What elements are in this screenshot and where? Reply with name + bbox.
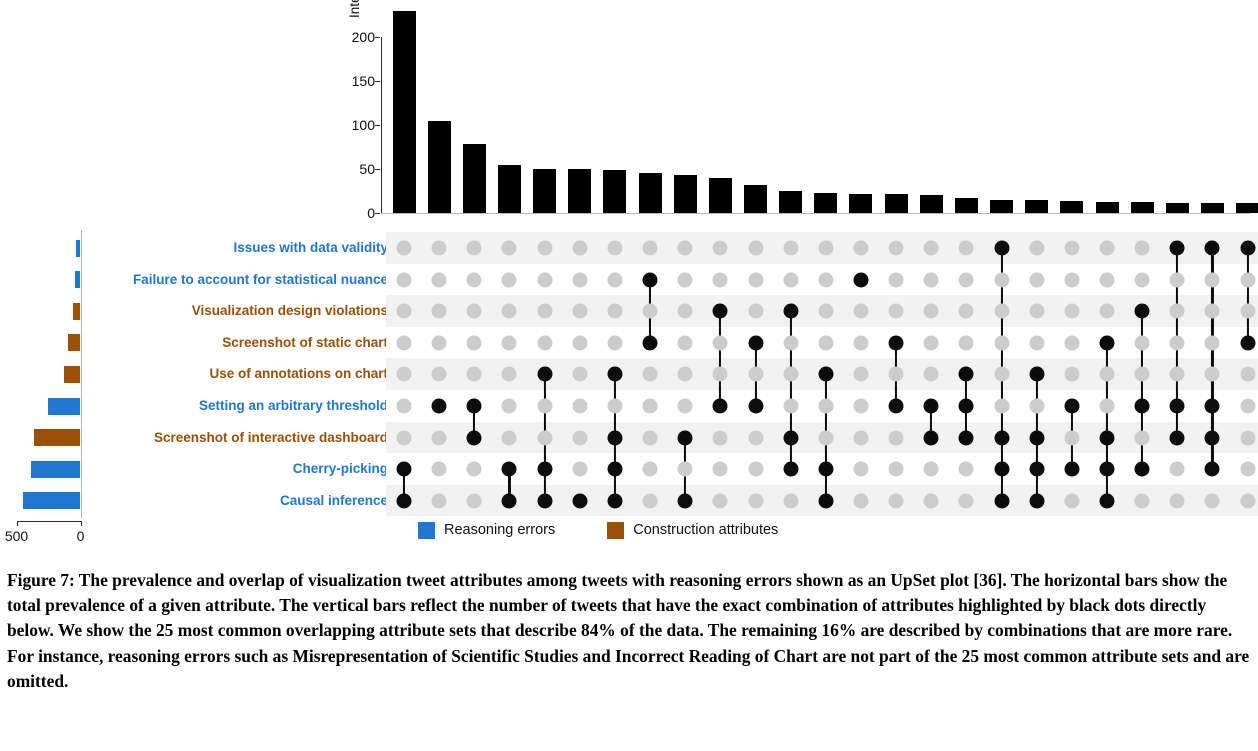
- matrix-dot-inactive: [397, 272, 412, 287]
- legend-label: Reasoning errors: [444, 522, 555, 538]
- matrix-dot-inactive: [713, 335, 728, 350]
- matrix-dot-inactive: [1135, 272, 1150, 287]
- matrix-dot-active: [713, 304, 728, 319]
- matrix-dot-active: [607, 430, 622, 445]
- matrix-dot-inactive: [713, 367, 728, 382]
- intersection-bar: [674, 175, 697, 213]
- matrix-dot-active: [994, 241, 1009, 256]
- matrix-dot-active: [1170, 430, 1185, 445]
- matrix-dot-inactive: [1100, 399, 1115, 414]
- matrix-dot-inactive: [537, 304, 552, 319]
- matrix-dot-inactive: [853, 367, 868, 382]
- matrix-connector-line: [719, 311, 721, 406]
- intersection-bar: [498, 165, 521, 213]
- legend: Reasoning errorsConstruction attributes: [418, 518, 778, 542]
- matrix-dot-active: [607, 462, 622, 477]
- set-size-tick-label: 500: [5, 528, 28, 544]
- matrix-dot-inactive: [502, 335, 517, 350]
- matrix-dot-inactive: [959, 493, 974, 508]
- set-size-tick-label: 0: [77, 528, 85, 544]
- matrix-dot-active: [959, 367, 974, 382]
- matrix-dot-inactive: [537, 272, 552, 287]
- matrix-dot-active: [1029, 367, 1044, 382]
- matrix-dot-inactive: [889, 462, 904, 477]
- matrix-dot-inactive: [959, 335, 974, 350]
- matrix-dot-active: [643, 335, 658, 350]
- matrix-dot-inactive: [572, 304, 587, 319]
- matrix-dot-inactive: [1064, 367, 1079, 382]
- matrix-dot-active: [889, 399, 904, 414]
- intersection-bar: [463, 144, 486, 213]
- matrix-dot-active: [678, 430, 693, 445]
- matrix-dot-inactive: [818, 430, 833, 445]
- matrix-dot-inactive: [678, 399, 693, 414]
- set-name-label: Causal inference: [280, 487, 388, 515]
- matrix-dot-inactive: [1064, 430, 1079, 445]
- matrix-dot-inactive: [607, 241, 622, 256]
- matrix-dot-inactive: [1205, 367, 1220, 382]
- matrix-dot-active: [1100, 335, 1115, 350]
- matrix-dot-inactive: [924, 462, 939, 477]
- matrix-dot-inactive: [1029, 304, 1044, 319]
- matrix-dot-active: [818, 462, 833, 477]
- intersection-bar: [779, 191, 802, 213]
- matrix-dot-active: [1100, 493, 1115, 508]
- matrix-dot-active: [783, 462, 798, 477]
- legend-swatch: [418, 522, 435, 539]
- matrix-dot-inactive: [959, 304, 974, 319]
- matrix-dot-inactive: [818, 241, 833, 256]
- set-size-axis: 5000: [0, 517, 110, 555]
- set-name-label: Screenshot of static chart: [222, 329, 388, 357]
- intersection-bar: [744, 185, 767, 213]
- matrix-dot-inactive: [1029, 399, 1044, 414]
- matrix-dot-inactive: [853, 430, 868, 445]
- matrix-dot-inactive: [853, 462, 868, 477]
- matrix-dot-inactive: [889, 493, 904, 508]
- intersection-bars: [0, 0, 1258, 214]
- matrix-dot-active: [1135, 399, 1150, 414]
- matrix-dot-inactive: [853, 335, 868, 350]
- matrix-dot-inactive: [889, 304, 904, 319]
- matrix-dot-active: [783, 430, 798, 445]
- matrix-dot-inactive: [748, 304, 763, 319]
- matrix-dot-inactive: [1240, 367, 1255, 382]
- matrix-dot-inactive: [994, 272, 1009, 287]
- matrix-dot-inactive: [397, 399, 412, 414]
- matrix-dot-inactive: [1029, 241, 1044, 256]
- matrix-dot-inactive: [783, 367, 798, 382]
- matrix-dot-inactive: [607, 335, 622, 350]
- matrix-dot-inactive: [572, 367, 587, 382]
- matrix-dot-inactive: [783, 241, 798, 256]
- intersection-bar: [428, 121, 451, 213]
- matrix-dot-active: [467, 430, 482, 445]
- matrix-dot-active: [1205, 241, 1220, 256]
- matrix-dot-inactive: [397, 430, 412, 445]
- set-size-tickmark: [17, 521, 18, 526]
- matrix-dot-inactive: [397, 304, 412, 319]
- set-size-bar: [48, 398, 81, 415]
- matrix-dot-inactive: [432, 241, 447, 256]
- matrix-dot-active: [783, 304, 798, 319]
- matrix-dot-inactive: [853, 241, 868, 256]
- matrix-dot-inactive: [783, 335, 798, 350]
- matrix-dot-inactive: [1100, 367, 1115, 382]
- matrix-dot-inactive: [994, 335, 1009, 350]
- matrix-dot-inactive: [713, 430, 728, 445]
- matrix-dot-inactive: [1135, 430, 1150, 445]
- matrix-dot-active: [748, 335, 763, 350]
- matrix-dot-inactive: [1029, 335, 1044, 350]
- set-size-bar: [31, 461, 81, 478]
- intersection-bar: [603, 170, 626, 213]
- matrix-dot-inactive: [959, 462, 974, 477]
- intersection-bar: [568, 169, 591, 213]
- intersection-bar: [1201, 203, 1224, 213]
- matrix-dot-inactive: [1240, 304, 1255, 319]
- matrix-dot-active: [1029, 462, 1044, 477]
- matrix-dot-inactive: [1100, 241, 1115, 256]
- matrix-dot-inactive: [889, 430, 904, 445]
- matrix-dot-active: [748, 399, 763, 414]
- intersection-bar: [639, 173, 662, 213]
- matrix-dot-inactive: [748, 272, 763, 287]
- matrix-dot-active: [1240, 241, 1255, 256]
- matrix-dot-active: [1029, 493, 1044, 508]
- matrix-dot-inactive: [783, 272, 798, 287]
- intersection-bar: [533, 169, 556, 213]
- matrix-dot-inactive: [572, 241, 587, 256]
- matrix-dot-inactive: [1170, 272, 1185, 287]
- matrix-dot-active: [994, 493, 1009, 508]
- matrix-dot-inactive: [783, 399, 798, 414]
- matrix-dot-inactive: [467, 462, 482, 477]
- matrix-dot-inactive: [1240, 462, 1255, 477]
- matrix-dot-inactive: [1100, 304, 1115, 319]
- matrix-dot-inactive: [643, 304, 658, 319]
- matrix-dot-inactive: [467, 272, 482, 287]
- matrix-dot-inactive: [1135, 335, 1150, 350]
- matrix-dot-inactive: [853, 399, 868, 414]
- matrix-dot-active: [502, 493, 517, 508]
- matrix-dot-inactive: [1064, 241, 1079, 256]
- matrix-dot-active: [959, 430, 974, 445]
- matrix-dot-inactive: [924, 272, 939, 287]
- matrix-dot-inactive: [1205, 272, 1220, 287]
- matrix-dot-inactive: [1170, 493, 1185, 508]
- matrix-dot-inactive: [1100, 272, 1115, 287]
- matrix-dot-inactive: [994, 367, 1009, 382]
- matrix-dot-inactive: [432, 430, 447, 445]
- upset-figure: Intersection size 050100150200 5000 Issu…: [0, 0, 1258, 560]
- matrix-dot-active: [1135, 304, 1150, 319]
- matrix-dot-inactive: [1205, 493, 1220, 508]
- matrix-dot-inactive: [1064, 335, 1079, 350]
- set-name-labels: Issues with data validityFailure to acco…: [96, 232, 392, 517]
- matrix-dot-inactive: [678, 462, 693, 477]
- upset-matrix: [386, 232, 1258, 517]
- matrix-dot-inactive: [467, 367, 482, 382]
- legend-label: Construction attributes: [633, 522, 778, 538]
- set-size-bar: [73, 303, 81, 320]
- matrix-dot-inactive: [1064, 272, 1079, 287]
- matrix-dot-active: [1205, 430, 1220, 445]
- matrix-dot-inactive: [397, 241, 412, 256]
- matrix-dot-inactive: [467, 335, 482, 350]
- matrix-dot-inactive: [502, 430, 517, 445]
- matrix-dot-inactive: [1170, 367, 1185, 382]
- matrix-dot-inactive: [678, 367, 693, 382]
- matrix-dot-inactive: [748, 430, 763, 445]
- matrix-dot-inactive: [643, 430, 658, 445]
- matrix-dot-inactive: [678, 304, 693, 319]
- matrix-dot-inactive: [502, 399, 517, 414]
- matrix-dot-active: [1170, 399, 1185, 414]
- matrix-dot-inactive: [924, 367, 939, 382]
- matrix-dot-inactive: [432, 304, 447, 319]
- matrix-dot-inactive: [537, 241, 552, 256]
- matrix-dot-inactive: [1240, 493, 1255, 508]
- matrix-dot-inactive: [467, 493, 482, 508]
- matrix-dot-inactive: [713, 272, 728, 287]
- matrix-dot-active: [994, 430, 1009, 445]
- matrix-dot-inactive: [1029, 272, 1044, 287]
- matrix-dot-active: [818, 367, 833, 382]
- matrix-dot-inactive: [748, 493, 763, 508]
- matrix-dot-active: [643, 272, 658, 287]
- matrix-dot-inactive: [713, 493, 728, 508]
- set-size-bar: [34, 429, 80, 446]
- matrix-dot-inactive: [748, 241, 763, 256]
- matrix-dot-inactive: [537, 430, 552, 445]
- matrix-dot-active: [502, 462, 517, 477]
- intersection-bar: [1236, 203, 1258, 213]
- matrix-dot-active: [607, 493, 622, 508]
- matrix-dot-inactive: [502, 304, 517, 319]
- matrix-dot-active: [397, 462, 412, 477]
- legend-item: Reasoning errors: [418, 522, 555, 539]
- matrix-dot-inactive: [537, 399, 552, 414]
- intersection-bar: [1025, 200, 1048, 213]
- set-size-bar: [23, 492, 81, 509]
- matrix-dot-inactive: [678, 335, 693, 350]
- matrix-dot-active: [537, 367, 552, 382]
- matrix-dot-inactive: [397, 367, 412, 382]
- intersection-bar: [849, 194, 872, 213]
- matrix-dot-active: [1170, 241, 1185, 256]
- matrix-dot-inactive: [924, 304, 939, 319]
- intersection-bar: [814, 193, 837, 213]
- matrix-dot-inactive: [889, 367, 904, 382]
- set-name-label: Failure to account for statistical nuanc…: [133, 266, 388, 294]
- matrix-dot-inactive: [818, 335, 833, 350]
- legend-swatch: [607, 522, 624, 539]
- matrix-dot-inactive: [572, 335, 587, 350]
- matrix-dot-active: [607, 367, 622, 382]
- matrix-dot-inactive: [432, 272, 447, 287]
- matrix-dot-inactive: [643, 399, 658, 414]
- matrix-dot-inactive: [432, 493, 447, 508]
- matrix-dot-inactive: [713, 462, 728, 477]
- intersection-bar: [1096, 202, 1119, 213]
- set-size-bar: [64, 366, 81, 383]
- matrix-dot-inactive: [783, 493, 798, 508]
- figure-caption: Figure 7: The prevalence and overlap of …: [7, 568, 1251, 694]
- matrix-dot-active: [924, 399, 939, 414]
- matrix-dot-inactive: [959, 272, 974, 287]
- matrix-dot-inactive: [889, 272, 904, 287]
- matrix-dot-inactive: [572, 430, 587, 445]
- matrix-dot-inactive: [432, 335, 447, 350]
- matrix-dot-active: [432, 399, 447, 414]
- intersection-bar: [1166, 203, 1189, 213]
- matrix-dot-active: [1135, 462, 1150, 477]
- set-size-tickmark: [81, 521, 82, 526]
- matrix-dot-inactive: [502, 241, 517, 256]
- matrix-dot-inactive: [748, 367, 763, 382]
- matrix-dot-inactive: [643, 241, 658, 256]
- matrix-dot-active: [818, 493, 833, 508]
- intersection-bar: [955, 198, 978, 213]
- matrix-dot-active: [537, 493, 552, 508]
- matrix-dot-inactive: [1135, 367, 1150, 382]
- set-size-bar: [68, 334, 80, 351]
- matrix-dot-inactive: [643, 367, 658, 382]
- matrix-dot-inactive: [748, 462, 763, 477]
- matrix-dot-inactive: [572, 462, 587, 477]
- set-name-label: Cherry-picking: [293, 455, 388, 483]
- matrix-dot-inactive: [502, 367, 517, 382]
- set-size-bar: [75, 271, 81, 288]
- matrix-dot-inactive: [678, 272, 693, 287]
- matrix-dot-active: [1064, 462, 1079, 477]
- matrix-dot-inactive: [818, 304, 833, 319]
- matrix-dot-inactive: [643, 462, 658, 477]
- matrix-dot-inactive: [959, 241, 974, 256]
- intersection-bar: [1060, 201, 1083, 213]
- matrix-dot-active: [924, 430, 939, 445]
- intersection-bar: [920, 195, 943, 213]
- matrix-dot-inactive: [713, 241, 728, 256]
- matrix-dot-active: [1100, 430, 1115, 445]
- matrix-dot-active: [1240, 335, 1255, 350]
- matrix-dot-active: [537, 462, 552, 477]
- matrix-dot-inactive: [432, 367, 447, 382]
- matrix-dot-inactive: [1240, 430, 1255, 445]
- set-name-label: Use of annotations on chart: [209, 360, 388, 388]
- matrix-dot-active: [713, 399, 728, 414]
- matrix-dot-inactive: [1170, 304, 1185, 319]
- matrix-dot-inactive: [607, 399, 622, 414]
- matrix-dot-inactive: [467, 304, 482, 319]
- matrix-dot-inactive: [643, 493, 658, 508]
- legend-item: Construction attributes: [607, 522, 778, 539]
- matrix-dot-active: [1205, 399, 1220, 414]
- matrix-dot-inactive: [572, 272, 587, 287]
- set-name-label: Setting an arbitrary threshold: [199, 392, 388, 420]
- matrix-dot-inactive: [924, 241, 939, 256]
- matrix-dot-active: [994, 462, 1009, 477]
- matrix-dot-inactive: [502, 272, 517, 287]
- matrix-dot-inactive: [1135, 493, 1150, 508]
- set-name-label: Visualization design violations: [192, 297, 388, 325]
- intersection-bar: [1131, 202, 1154, 213]
- intersection-bar: [709, 178, 732, 213]
- matrix-dot-inactive: [572, 399, 587, 414]
- matrix-dot-inactive: [994, 304, 1009, 319]
- matrix-dot-active: [1064, 399, 1079, 414]
- matrix-dot-active: [467, 399, 482, 414]
- matrix-dot-active: [889, 335, 904, 350]
- matrix-dot-inactive: [1240, 272, 1255, 287]
- matrix-dot-inactive: [607, 272, 622, 287]
- set-size-bar: [76, 240, 81, 257]
- matrix-dot-inactive: [432, 462, 447, 477]
- matrix-dot-inactive: [818, 272, 833, 287]
- matrix-dot-active: [1205, 462, 1220, 477]
- matrix-dot-inactive: [1205, 304, 1220, 319]
- matrix-dot-inactive: [1064, 304, 1079, 319]
- matrix-dot-inactive: [889, 241, 904, 256]
- matrix-dot-inactive: [607, 304, 622, 319]
- matrix-dot-inactive: [1205, 335, 1220, 350]
- matrix-dot-inactive: [818, 399, 833, 414]
- matrix-dot-inactive: [397, 335, 412, 350]
- matrix-dot-inactive: [1170, 462, 1185, 477]
- set-name-label: Issues with data validity: [233, 234, 388, 262]
- intersection-bar: [393, 11, 416, 213]
- matrix-dot-active: [397, 493, 412, 508]
- matrix-dot-inactive: [1135, 241, 1150, 256]
- matrix-connector-line: [1247, 248, 1249, 343]
- matrix-dot-inactive: [537, 335, 552, 350]
- set-size-bars: [0, 232, 92, 517]
- matrix-dot-active: [572, 493, 587, 508]
- matrix-dot-inactive: [853, 304, 868, 319]
- matrix-dot-inactive: [924, 335, 939, 350]
- matrix-dot-inactive: [467, 241, 482, 256]
- intersection-bar: [990, 200, 1013, 213]
- matrix-dot-inactive: [1064, 493, 1079, 508]
- matrix-dot-active: [853, 272, 868, 287]
- matrix-dot-inactive: [994, 399, 1009, 414]
- matrix-dot-active: [959, 399, 974, 414]
- set-name-label: Screenshot of interactive dashboard: [154, 424, 388, 452]
- matrix-dot-inactive: [1170, 335, 1185, 350]
- matrix-dot-active: [1029, 430, 1044, 445]
- set-size-axis-line: [17, 521, 81, 522]
- matrix-dot-inactive: [678, 241, 693, 256]
- matrix-dot-inactive: [853, 493, 868, 508]
- matrix-dot-active: [1100, 462, 1115, 477]
- matrix-dot-inactive: [924, 493, 939, 508]
- matrix-dot-inactive: [1240, 399, 1255, 414]
- intersection-bar: [885, 194, 908, 213]
- matrix-dot-active: [678, 493, 693, 508]
